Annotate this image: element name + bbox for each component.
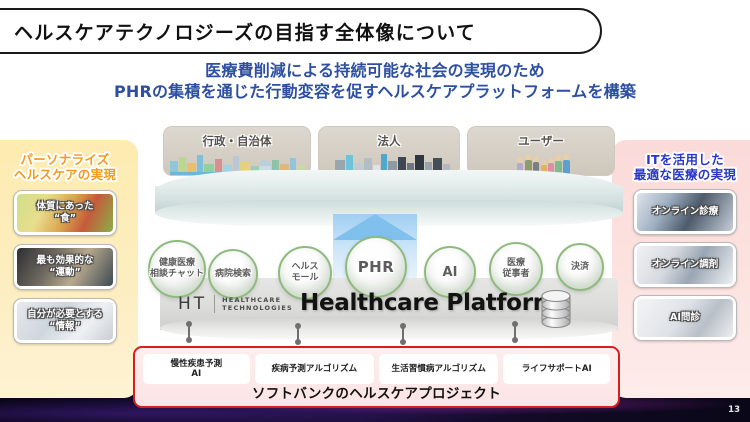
bubble-label-payment: 決済 (571, 262, 589, 273)
segment-label-corporate: 法人 (319, 133, 459, 149)
slide-title-banner: ヘルスケアテクノロジーズの目指す全体像について (0, 8, 602, 54)
healthcare-platform-title: Healthcare Platform (300, 290, 556, 316)
ht-logo-divider (214, 295, 215, 313)
ht-logo-line1: HEALTHCARE (222, 296, 293, 305)
segment-box-user[interactable]: ユーザー (467, 126, 615, 176)
ht-logo-mark: HT (178, 294, 207, 314)
database-cylinder-icon (536, 288, 576, 330)
subtitle-line-1: 医療費削減による持続可能な社会の実現のため (0, 60, 750, 81)
bubble-label-phr: PHR (358, 262, 395, 273)
segment-box-government[interactable]: 行政・自治体 (163, 126, 311, 176)
platform-diagram: 行政・自治体 法人 ユーザー (0, 118, 750, 418)
service-bubble-phr[interactable]: PHR (345, 236, 407, 298)
bubble-label-ai: AI (443, 267, 458, 278)
project-item-life-support-ai[interactable]: ライフサポートAI (503, 354, 610, 384)
page-number: 13 (728, 405, 740, 415)
project-item-chronic-disease-ai[interactable]: 慢性疾患予測 AI (143, 354, 250, 384)
project-item-disease-prediction-algorithm[interactable]: 疾病予測アルゴリズム (255, 354, 374, 384)
page-title: ヘルスケアテクノロジーズの目指す全体像について (14, 18, 476, 45)
subtitle-line-2: PHRの集積を通じた行動変容を促すヘルスケアプラットフォームを構築 (0, 81, 750, 102)
ht-logo: HT HEALTHCARE TECHNOLOGIES (178, 294, 293, 314)
bubble-label-hospital-search: 病院検索 (215, 269, 251, 280)
service-bubble-health-chat[interactable]: 健康医療相談チャット (148, 240, 206, 298)
service-bubble-payment[interactable]: 決済 (556, 243, 604, 291)
project-box-label: ソフトバンクのヘルスケアプロジェクト (135, 382, 618, 402)
project-item-lifestyle-disease-algorithm[interactable]: 生活習慣病アルゴリズム (379, 354, 498, 384)
service-bubble-medical-staff[interactable]: 医療従事者 (489, 242, 543, 296)
softbank-healthcare-project-box: 慢性疾患予測 AI 疾病予測アルゴリズム 生活習慣病アルゴリズム ライフサポート… (133, 346, 620, 408)
project-items-row: 慢性疾患予測 AI 疾病予測アルゴリズム 生活習慣病アルゴリズム ライフサポート… (143, 354, 610, 384)
slide-subtitle: 医療費削減による持続可能な社会の実現のため PHRの集積を通じた行動変容を促すヘ… (0, 60, 750, 102)
service-bubble-hospital-search[interactable]: 病院検索 (208, 249, 258, 299)
segment-label-government: 行政・自治体 (164, 133, 310, 149)
ht-logo-line2: TECHNOLOGIES (222, 304, 293, 313)
segment-label-user: ユーザー (468, 133, 614, 149)
segment-box-corporate[interactable]: 法人 (318, 126, 460, 176)
